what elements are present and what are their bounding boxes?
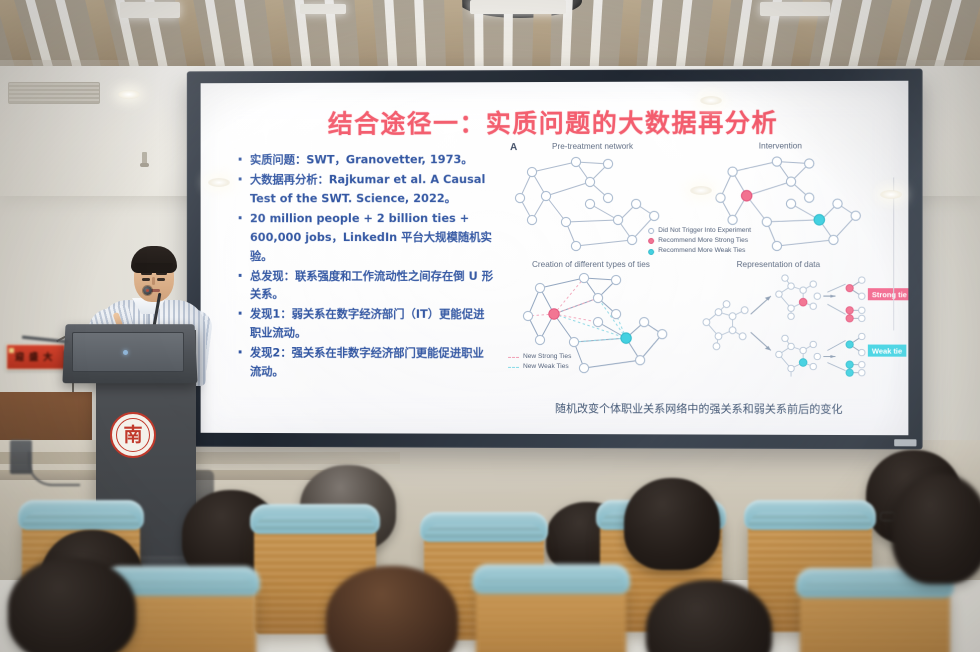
ceiling-baffle	[589, 0, 603, 75]
legend-label: Did Not Trigger Into Experiment	[658, 226, 751, 236]
legend-marker-hollow-icon	[648, 228, 654, 234]
legend-item: New Strong Ties	[508, 352, 571, 362]
ceiling-downlight-icon	[880, 190, 902, 199]
audience-chair[interactable]	[476, 576, 626, 652]
nose	[152, 277, 155, 285]
eye	[142, 278, 150, 281]
ceiling-light-panel	[470, 0, 566, 14]
legend-label: Recommend More Weak Ties	[658, 246, 745, 256]
legend-item: Recommend More Weak Ties	[648, 246, 751, 256]
eye	[157, 278, 165, 281]
ceiling-downlight-icon	[208, 178, 230, 187]
legend-label: Recommend More Strong Ties	[658, 236, 748, 246]
ceiling-baffle	[384, 0, 398, 75]
lecture-hall-scene: 迎 盛 大 结合途径一：实质问题的大数据再分析 实质问题：SWT，Granove…	[0, 0, 980, 652]
figure-caption-representation: Representation of data	[737, 260, 821, 269]
emblem-glyph: 南	[123, 426, 142, 445]
list-item: 大数据再分析：Rajkumar et al. A Causal Test of …	[234, 170, 494, 208]
power-led-icon	[123, 350, 128, 355]
ceiling-baffle	[204, 0, 227, 75]
legend-label: New Weak Ties	[523, 362, 569, 372]
slide-vertical-rule	[893, 177, 894, 330]
ceiling-baffle	[234, 0, 256, 75]
ceiling-baffle	[354, 0, 379, 75]
legend-dash-weak-icon	[508, 367, 519, 368]
audience-head	[624, 478, 720, 570]
legend-item: New Weak Ties	[508, 362, 571, 372]
slide-figure: A Pre-treatment network Intervention Cre…	[504, 137, 898, 389]
presentation-slide: 结合途径一：实质问题的大数据再分析 实质问题：SWT，Granovetter, …	[201, 81, 909, 436]
microphone-icon	[143, 286, 152, 295]
legend-item: Recommend More Strong Ties	[648, 236, 751, 246]
list-item: 发现1：弱关系在数字经济部门（IT）更能促进职业流动。	[234, 305, 494, 343]
legend-dash-strong-icon	[508, 357, 519, 358]
ceiling-downlight-icon	[690, 186, 712, 195]
slide-bullet-list: 实质问题：SWT，Granovetter, 1973。 大数据再分析：Rajku…	[234, 150, 494, 383]
status-badge-weak-tie: Weak tie	[868, 345, 906, 357]
legend-marker-pink-icon	[648, 238, 654, 244]
banner-seal-icon	[9, 348, 14, 353]
ceiling-baffle	[414, 0, 427, 75]
ceiling-light-panel	[300, 4, 346, 14]
ceiling-downlight-icon	[700, 96, 722, 105]
legend-label: New Strong Ties	[523, 352, 571, 362]
figure-tie-legend: New Strong Ties New Weak Ties	[508, 352, 571, 373]
wall-banner-sign: 迎 盛 大	[6, 344, 66, 370]
list-item: 实质问题：SWT，Granovetter, 1973。	[234, 150, 494, 169]
ceiling-baffle	[674, 0, 693, 75]
list-item: 发现2：强关系在非数字经济部门更能促进职业流动。	[234, 344, 494, 382]
projection-screen-frame: 结合途径一：实质问题的大数据再分析 实质问题：SWT，Granovetter, …	[187, 69, 923, 450]
chair-wood-texture	[476, 576, 626, 652]
figure-caption-pretreatment: Pre-treatment network	[552, 142, 633, 151]
ceiling-baffle	[731, 0, 753, 75]
speaker-hair	[131, 246, 177, 273]
audience-head	[892, 474, 980, 584]
list-item: 总发现：联系强度和工作流动性之间存在倒 U 形关系。	[234, 266, 494, 304]
ceiling-light-panel	[760, 2, 830, 16]
ceiling-light-panel	[120, 2, 180, 18]
network-graph-data-representation	[698, 270, 896, 379]
wall-banner-text: 迎 盛 大	[15, 350, 53, 363]
slide-title: 结合途径一：实质问题的大数据再分析	[201, 103, 909, 141]
ceiling-baffle	[264, 0, 293, 75]
legend-item: Did Not Trigger Into Experiment	[648, 226, 751, 236]
audience-area	[0, 430, 980, 652]
audience-chair[interactable]	[800, 580, 950, 652]
legend-marker-cyan-icon	[648, 249, 654, 255]
podium-control-monitor[interactable]	[72, 332, 184, 372]
audience-head	[8, 558, 136, 652]
ceiling-baffle	[444, 0, 464, 75]
figure-caption-intervention: Intervention	[759, 141, 802, 150]
ceiling-baffle	[703, 0, 732, 75]
figure-caption-creation: Creation of different types of ties	[532, 260, 650, 269]
status-badge-strong-tie: Strong tie	[868, 288, 909, 300]
ceiling-baffle	[617, 0, 642, 75]
ceiling-baffle	[646, 0, 663, 75]
list-item: 20 million people + 2 billion ties + 600…	[234, 209, 494, 266]
chair-wood-texture	[800, 580, 950, 652]
ceiling-downlight-icon	[118, 90, 140, 99]
figure-panel-label: A	[510, 142, 517, 153]
figure-node-legend: Did Not Trigger Into Experiment Recommen…	[648, 226, 751, 257]
slide-figure-caption: 随机改变个体职业关系网络中的强关系和弱关系前后的变化	[498, 400, 900, 417]
